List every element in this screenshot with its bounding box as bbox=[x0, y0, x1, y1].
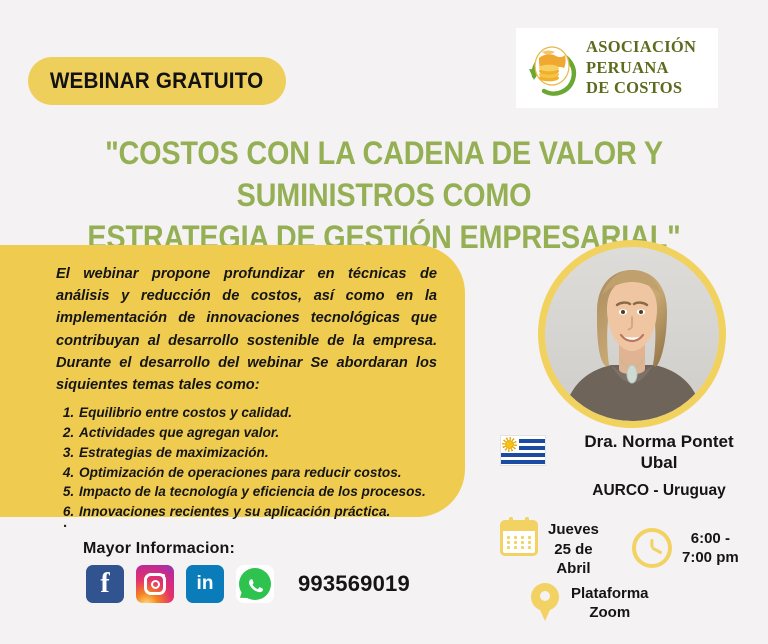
speaker-portrait bbox=[545, 247, 719, 421]
logo-line-2: PERUANA bbox=[586, 58, 696, 79]
flag-canton bbox=[501, 436, 519, 453]
speaker-name-line-1: Dra. Norma Pontet bbox=[556, 432, 762, 453]
linkedin-glyph: in bbox=[197, 573, 214, 595]
clock-icon bbox=[632, 528, 672, 568]
list-item: Impacto de la tecnología y eficiencia de… bbox=[78, 482, 437, 502]
uruguay-flag-icon bbox=[500, 435, 546, 466]
webinar-flyer: WEBINAR GRATUITO ASOCIACIÓN PERUANA DE C… bbox=[0, 0, 768, 644]
logo-text: ASOCIACIÓN PERUANA DE COSTOS bbox=[586, 37, 696, 99]
event-time-line-2: 7:00 pm bbox=[682, 548, 739, 568]
globe-coins-recycle-arrow-icon bbox=[522, 36, 580, 100]
event-place: Plataforma Zoom bbox=[531, 583, 649, 623]
sun-of-may-icon bbox=[504, 439, 515, 450]
list-item: Equilibrio entre costos y calidad. bbox=[78, 403, 437, 423]
instagram-icon[interactable] bbox=[136, 565, 174, 603]
event-time: 6:00 - 7:00 pm bbox=[632, 528, 739, 568]
instagram-lens-glyph bbox=[151, 580, 160, 589]
page-title: "COSTOS CON LA CADENA DE VALOR Y SUMINIS… bbox=[58, 132, 710, 259]
event-place-line-1: Plataforma bbox=[571, 584, 649, 604]
social-links-row: f in 993569019 bbox=[86, 565, 410, 603]
stray-punctuation-mark: . bbox=[63, 514, 67, 531]
event-date-text: Jueves 25 de Abril bbox=[548, 520, 599, 579]
speaker-name-line-2: Ubal bbox=[556, 453, 762, 474]
whatsapp-circle-glyph bbox=[239, 568, 271, 600]
speaker-organization: AURCO - Uruguay bbox=[556, 482, 762, 500]
linkedin-icon[interactable]: in bbox=[186, 565, 224, 603]
contact-phone-number: 993569019 bbox=[298, 571, 410, 597]
badge-label: WEBINAR GRATUITO bbox=[50, 68, 264, 94]
speaker-photo-ring bbox=[538, 240, 726, 428]
speaker-name-block: Dra. Norma Pontet Ubal AURCO - Uruguay bbox=[556, 432, 762, 500]
description-card: El webinar propone profundizar en técnic… bbox=[0, 245, 465, 517]
organization-logo: ASOCIACIÓN PERUANA DE COSTOS bbox=[516, 28, 718, 108]
calendar-icon bbox=[500, 520, 538, 556]
event-date: Jueves 25 de Abril bbox=[500, 520, 599, 579]
list-item: Actividades que agregan valor. bbox=[78, 423, 437, 443]
facebook-icon[interactable]: f bbox=[86, 565, 124, 603]
title-line-1: "COSTOS CON LA CADENA DE VALOR Y SUMINIS… bbox=[58, 132, 710, 216]
event-place-text: Plataforma Zoom bbox=[571, 584, 649, 623]
list-item: Estrategias de maximización. bbox=[78, 443, 437, 463]
event-time-line-1: 6:00 - bbox=[682, 529, 739, 549]
contact-label: Mayor Informacion: bbox=[83, 540, 235, 558]
logo-line-1: ASOCIACIÓN bbox=[586, 37, 696, 58]
webinar-gratuito-badge: WEBINAR GRATUITO bbox=[28, 57, 286, 105]
topics-list: Equilibrio entre costos y calidad. Activ… bbox=[56, 403, 437, 522]
event-place-line-2: Zoom bbox=[571, 603, 649, 623]
speaker-info: Dra. Norma Pontet Ubal AURCO - Uruguay bbox=[500, 432, 762, 500]
facebook-glyph: f bbox=[100, 568, 109, 600]
list-item: Optimización de operaciones para reducir… bbox=[78, 463, 437, 483]
event-date-line-2: 25 de bbox=[548, 540, 599, 560]
event-time-text: 6:00 - 7:00 pm bbox=[682, 529, 739, 568]
logo-line-3: DE COSTOS bbox=[586, 78, 696, 99]
whatsapp-handset-glyph bbox=[246, 575, 265, 594]
whatsapp-icon[interactable] bbox=[236, 565, 274, 603]
event-date-line-3: Abril bbox=[548, 559, 599, 579]
description-paragraph: El webinar propone profundizar en técnic… bbox=[56, 263, 437, 396]
list-item: Innovaciones recientes y su aplicación p… bbox=[78, 502, 437, 522]
whatsapp-tail-glyph bbox=[240, 590, 249, 600]
location-pin-icon bbox=[531, 583, 559, 623]
event-date-line-1: Jueves bbox=[548, 520, 599, 540]
